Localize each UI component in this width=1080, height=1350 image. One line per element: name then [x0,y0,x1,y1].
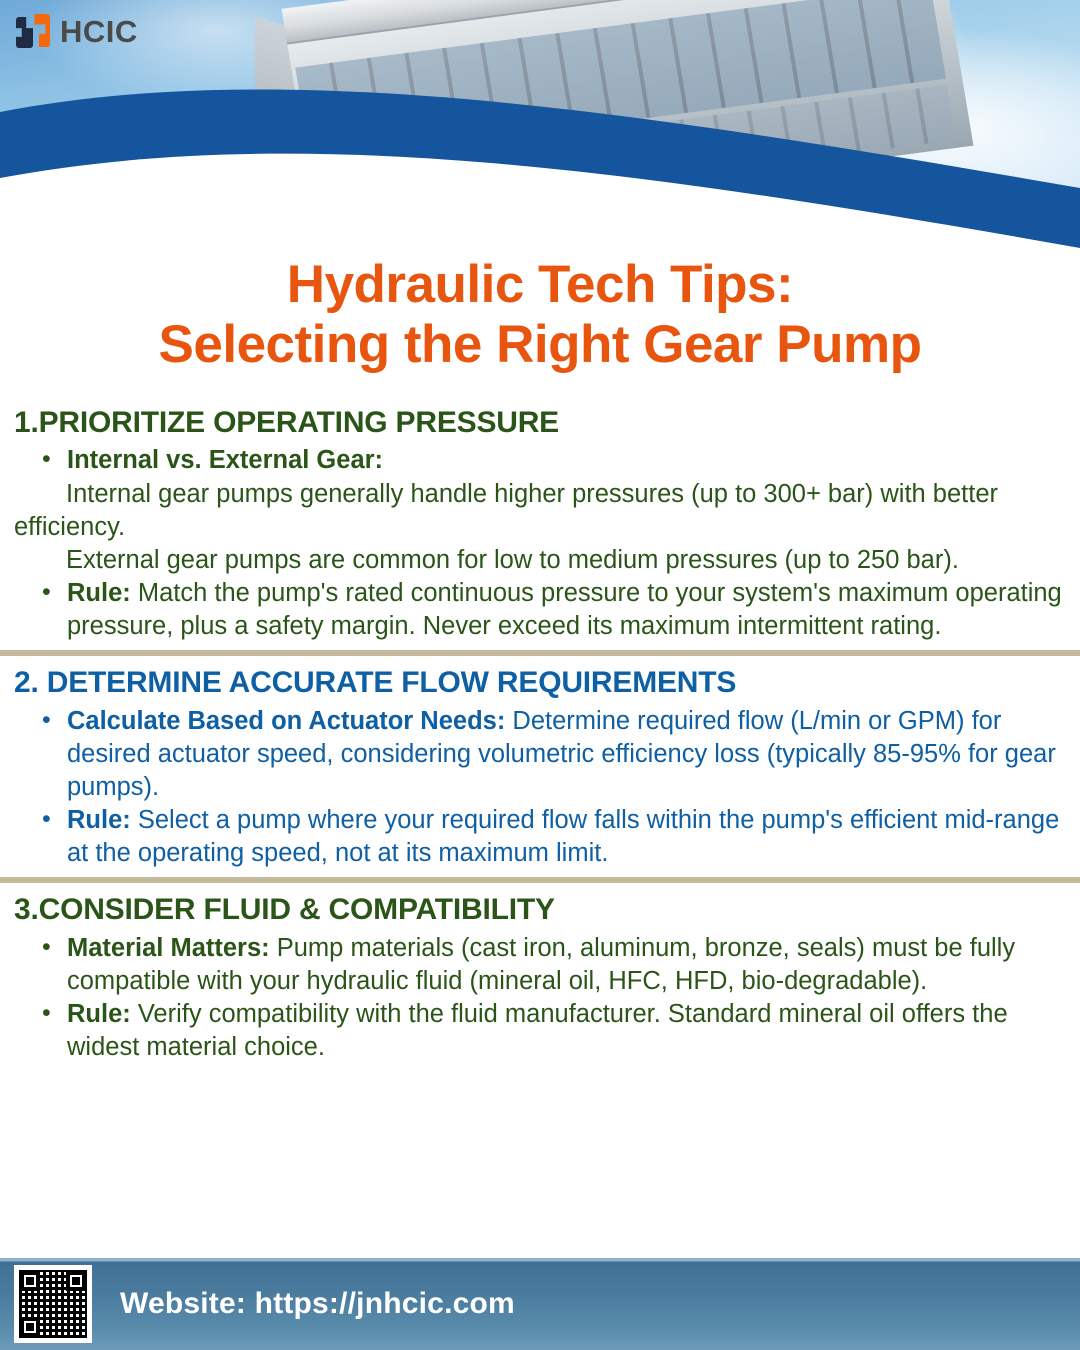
section-2-bullet-1: Calculate Based on Actuator Needs: Deter… [14,705,1066,804]
section-1-para-1: Internal gear pumps generally handle hig… [14,478,1066,544]
section-determine-accurate-flow-requirements: 2. DETERMINE ACCURATE FLOW REQUIREMENTS … [0,665,1080,870]
section-3-bullet-1: Material Matters: Pump materials (cast i… [14,932,1066,998]
qr-eye-bottom-left [20,1317,40,1337]
qr-code-pattern [19,1270,87,1338]
section-3-bullet-1-lead: Material Matters: [67,934,270,962]
section-2-bullet-2-lead: Rule: [67,806,131,834]
section-3-bullet-2: Rule: Verify compatibility with the flui… [14,998,1066,1064]
section-3-bullet-2-lead: Rule: [67,1000,131,1028]
page-title-line1: Hydraulic Tech Tips: [0,255,1080,315]
section-1-para-2: External gear pumps are common for low t… [14,544,1066,577]
tips-content: 1.PRIORITIZE OPERATING PRESSURE Internal… [0,405,1080,1064]
page-title-line2: Selecting the Right Gear Pump [0,315,1080,375]
section-1-bullet-2-text: Match the pump's rated continuous pressu… [67,579,1062,640]
section-divider-1 [0,650,1080,656]
qr-code[interactable] [14,1265,92,1343]
section-2-bullet-1-lead: Calculate Based on Actuator Needs: [67,707,505,735]
hcic-logo-mark-icon [16,14,52,50]
footer-bar: Website: https://jnhcic.com [0,1258,1080,1350]
page-title: Hydraulic Tech Tips: Selecting the Right… [0,255,1080,376]
section-divider-2 [0,877,1080,883]
section-2-bullet-2-text: Select a pump where your required flow f… [67,806,1059,867]
blue-wave-divider [0,0,1080,250]
section-1-bullet-1-lead: Internal vs. External Gear: [67,446,383,474]
website-link[interactable]: Website: https://jnhcic.com [120,1287,515,1321]
qr-eye-top-left [20,1271,40,1291]
section-2-heading: 2. DETERMINE ACCURATE FLOW REQUIREMENTS [14,665,1066,700]
section-3-heading: 3.CONSIDER FLUID & COMPATIBILITY [14,892,1066,927]
section-1-bullet-1: Internal vs. External Gear: [14,444,1066,477]
hcic-logo-text: HCIC [60,14,138,50]
section-1-heading: 1.PRIORITIZE OPERATING PRESSURE [14,405,1066,440]
section-1-bullet-2-lead: Rule: [67,579,131,607]
section-2-bullet-2: Rule: Select a pump where your required … [14,804,1066,870]
qr-eye-top-right [66,1271,86,1291]
hcic-logo[interactable]: HCIC [16,14,138,50]
section-consider-fluid-compatibility: 3.CONSIDER FLUID & COMPATIBILITY Materia… [0,892,1080,1064]
section-prioritize-operating-pressure: 1.PRIORITIZE OPERATING PRESSURE Internal… [0,405,1080,643]
header-banner: HCIC 华辰重工 HCIC [0,0,1080,250]
section-1-bullet-2: Rule: Match the pump's rated continuous … [14,577,1066,643]
section-3-bullet-2-text: Verify compatibility with the fluid manu… [67,1000,1008,1061]
